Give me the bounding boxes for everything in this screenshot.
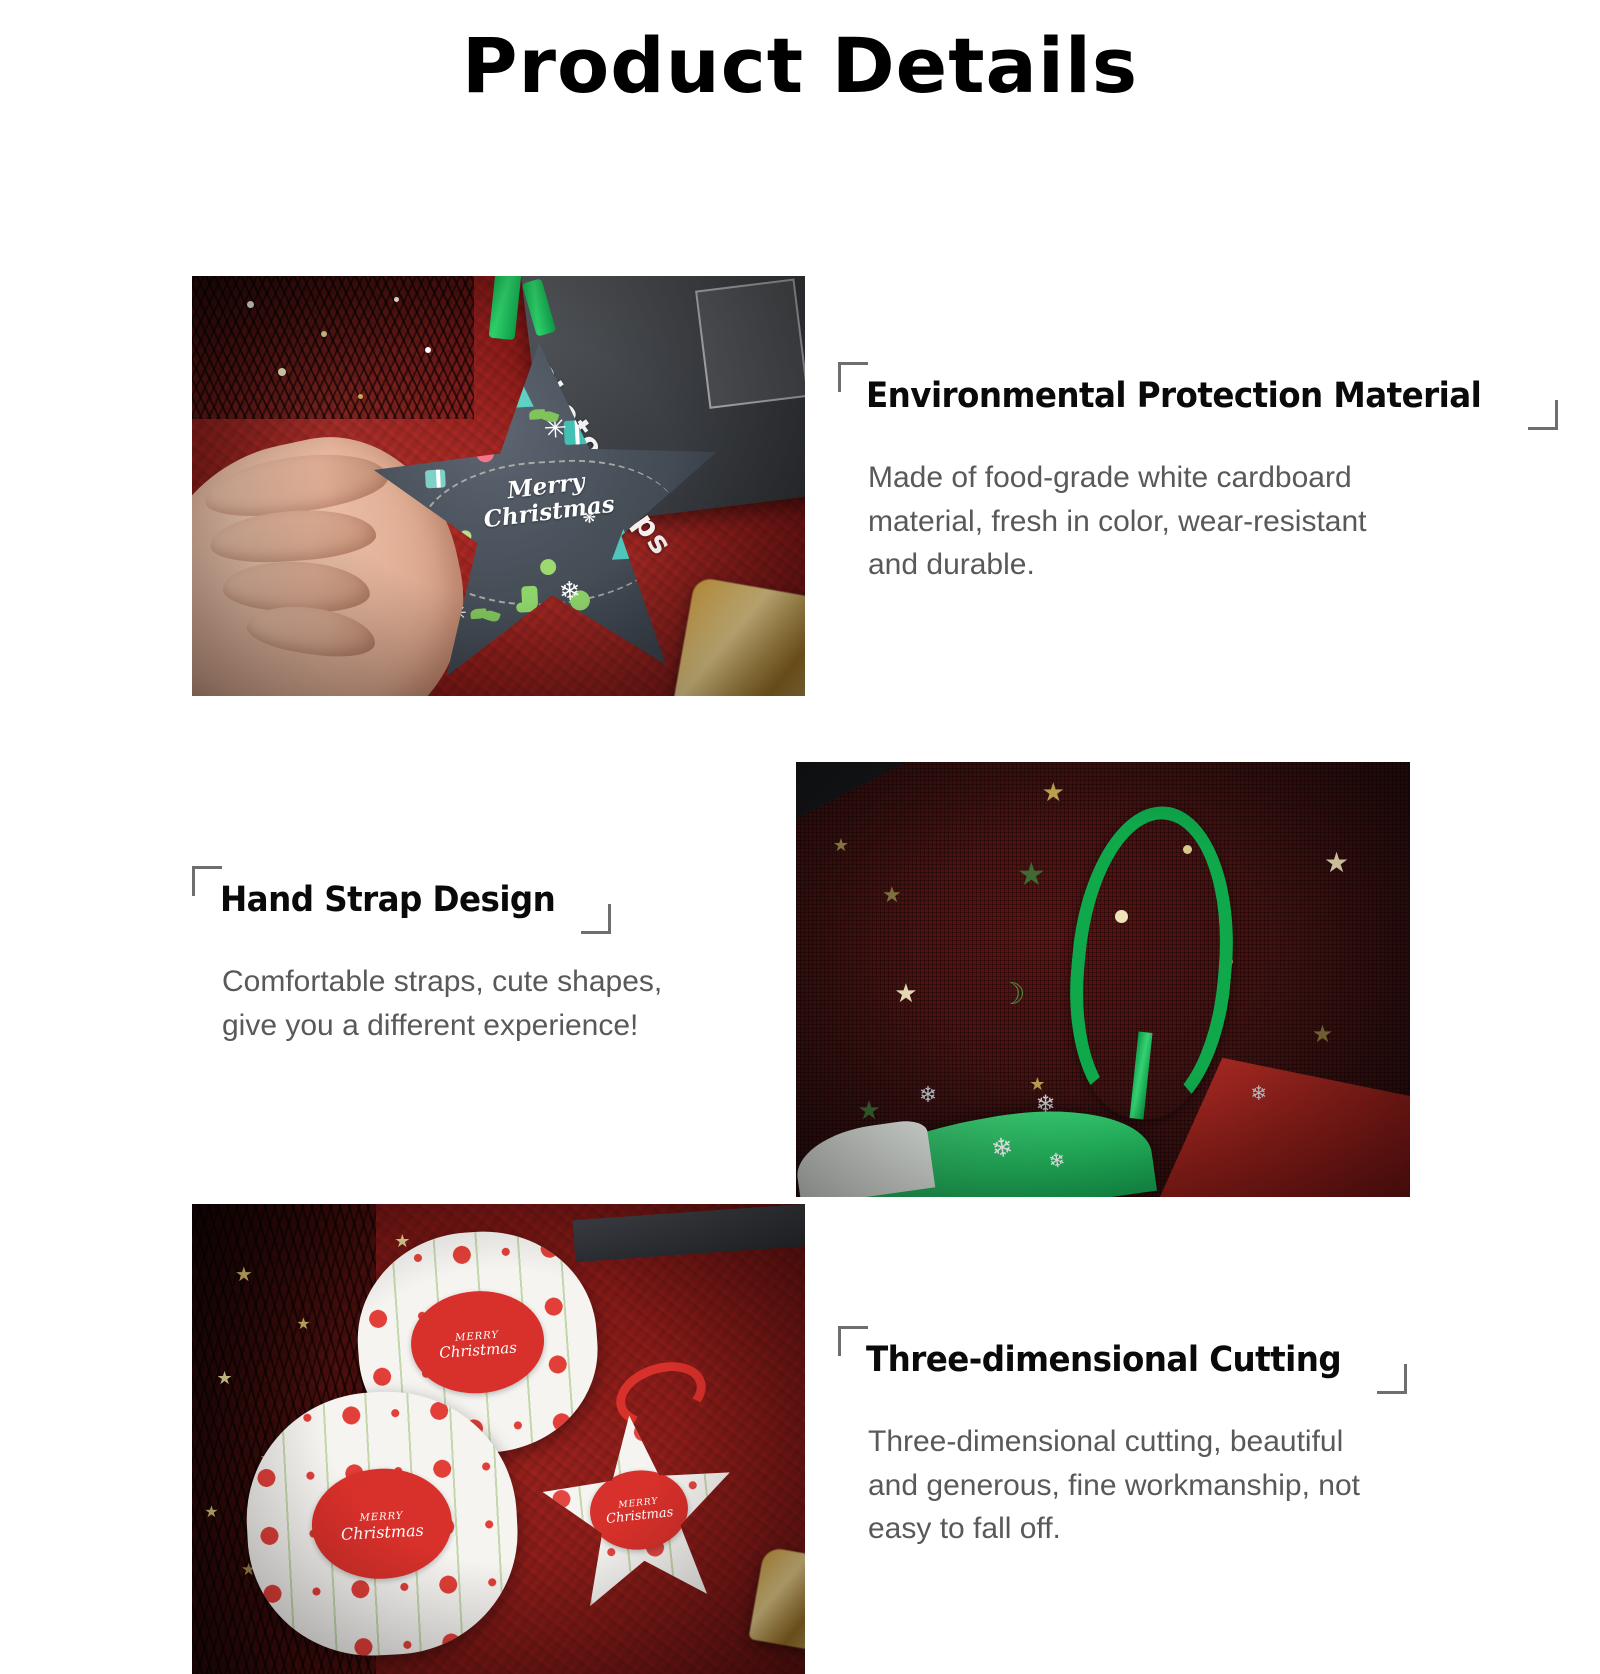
bracket-bottom-right-icon [1528, 400, 1558, 430]
feature-body: Three-dimensional cutting, beautiful and… [868, 1420, 1478, 1551]
bracket-bottom-right-icon [1377, 1364, 1407, 1394]
product-photo-star-box-in-hand: Photo props [192, 276, 805, 696]
bracket-bottom-right-icon [581, 904, 611, 934]
feature-text-environmental: Environmental Protection Material Made o… [838, 362, 1478, 587]
feature-text-hand-strap: Hand Strap Design Comfortable straps, cu… [192, 866, 832, 1047]
feature-heading: Hand Strap Design [220, 880, 555, 920]
product-photo-flat-blanks: ★ ★ ★ ★ ★ ★ ★ ★ ★ MERRYChristmas [192, 1204, 805, 1674]
bracket-top-left-icon [838, 1326, 868, 1356]
feature-heading: Three-dimensional Cutting [866, 1340, 1341, 1380]
feature-text-three-dimensional: Three-dimensional Cutting Three-dimensio… [838, 1326, 1478, 1551]
bracket-top-left-icon [192, 866, 222, 896]
feature-heading: Environmental Protection Material [866, 376, 1481, 416]
bracket-top-left-icon [838, 362, 868, 392]
feature-body: Comfortable straps, cute shapes, give yo… [222, 960, 832, 1047]
page-title: Product Details [0, 0, 1600, 104]
product-photo-ribbon-strap: ★ ★ ★ ★ ★ ★ ★ ★ ☽ ❄ ❄ ❄ ★ ❄ ❄ [796, 762, 1410, 1197]
feature-body: Made of food-grade white cardboard mater… [868, 456, 1478, 587]
